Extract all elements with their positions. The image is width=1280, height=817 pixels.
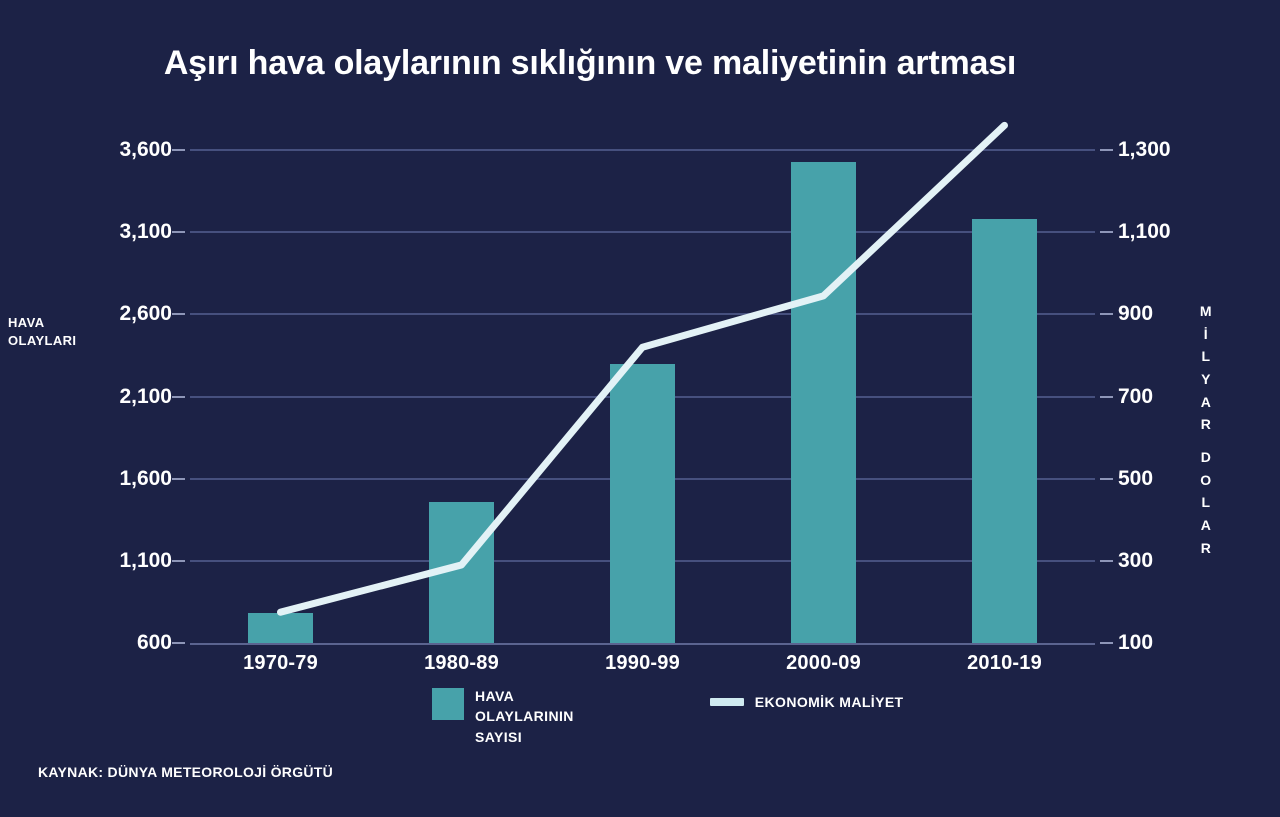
left-axis-title-line2: OLAYLARI (8, 332, 76, 350)
right-axis-title-letter: A (1194, 514, 1218, 537)
right-axis-tick (1100, 560, 1113, 562)
right-axis-tick (1100, 642, 1113, 644)
right-axis-tick (1100, 149, 1113, 151)
right-axis-title-letter: L (1194, 345, 1218, 368)
plot-area (190, 150, 1095, 643)
right-axis-tick (1100, 478, 1113, 480)
right-axis-tick-label: 1,100 (1118, 220, 1171, 244)
right-axis-title-letter: İ (1194, 323, 1218, 346)
left-axis-tick-label: 600 (137, 631, 172, 655)
economic-cost-line (190, 150, 1095, 643)
right-axis-title: MİLYARDOLAR (1194, 300, 1218, 559)
legend: HAVA OLAYLARININ SAYISI EKONOMİK MALİYET (432, 686, 904, 747)
left-axis-tick (172, 231, 185, 233)
left-axis-tick-label: 1,600 (119, 467, 172, 491)
left-axis-tick (172, 149, 185, 151)
right-axis-tick (1100, 231, 1113, 233)
x-axis-tick-label: 2010-19 (967, 652, 1042, 675)
legend-line-swatch-icon (710, 698, 744, 706)
left-axis-tick-label: 3,600 (119, 138, 172, 162)
legend-item-weather-events: HAVA OLAYLARININ SAYISI (432, 686, 574, 747)
right-axis-title-letter: M (1194, 300, 1218, 323)
right-axis-title-letter: L (1194, 491, 1218, 514)
left-axis-tick-label: 2,600 (119, 302, 172, 326)
x-axis-line (190, 643, 1095, 645)
source-note: KAYNAK: DÜNYA METEOROLOJİ ÖRGÜTÜ (38, 764, 333, 780)
legend-label-economic-cost: EKONOMİK MALİYET (755, 692, 904, 712)
right-axis-tick (1100, 396, 1113, 398)
left-axis-tick (172, 642, 185, 644)
left-axis-tick (172, 560, 185, 562)
right-axis-tick-label: 300 (1118, 549, 1153, 573)
right-axis-title-letter: D (1194, 446, 1218, 469)
right-axis-title-gap (1194, 436, 1218, 446)
left-axis-tick (172, 313, 185, 315)
page-title: Aşırı hava olaylarının sıklığının ve mal… (0, 44, 1180, 83)
right-axis-tick-label: 700 (1118, 385, 1153, 409)
left-axis-tick-label: 2,100 (119, 385, 172, 409)
right-axis-tick-label: 900 (1118, 302, 1153, 326)
right-axis-tick-label: 1,300 (1118, 138, 1171, 162)
left-axis-tick-label: 3,100 (119, 220, 172, 244)
left-axis-title: HAVA OLAYLARI (8, 314, 76, 349)
x-axis-tick-label: 1970-79 (243, 652, 318, 675)
right-axis-title-letter: Y (1194, 368, 1218, 391)
chart-container: Aşırı hava olaylarının sıklığının ve mal… (0, 0, 1280, 817)
right-axis-title-letter: O (1194, 469, 1218, 492)
right-axis-tick (1100, 313, 1113, 315)
right-axis-title-letter: R (1194, 413, 1218, 436)
right-axis-title-letter: A (1194, 391, 1218, 414)
legend-label-weather-events: HAVA OLAYLARININ SAYISI (475, 686, 574, 747)
right-axis-title-letter: R (1194, 537, 1218, 560)
legend-item-economic-cost: EKONOMİK MALİYET (710, 686, 904, 712)
x-axis-tick-label: 1980-89 (424, 652, 499, 675)
left-axis-tick (172, 478, 185, 480)
x-axis-tick-label: 1990-99 (605, 652, 680, 675)
right-axis-tick-label: 500 (1118, 467, 1153, 491)
left-axis-tick (172, 396, 185, 398)
left-axis-tick-label: 1,100 (119, 549, 172, 573)
left-axis-title-line1: HAVA (8, 314, 76, 332)
x-axis-tick-label: 2000-09 (786, 652, 861, 675)
right-axis-tick-label: 100 (1118, 631, 1153, 655)
legend-bar-swatch-icon (432, 688, 464, 720)
